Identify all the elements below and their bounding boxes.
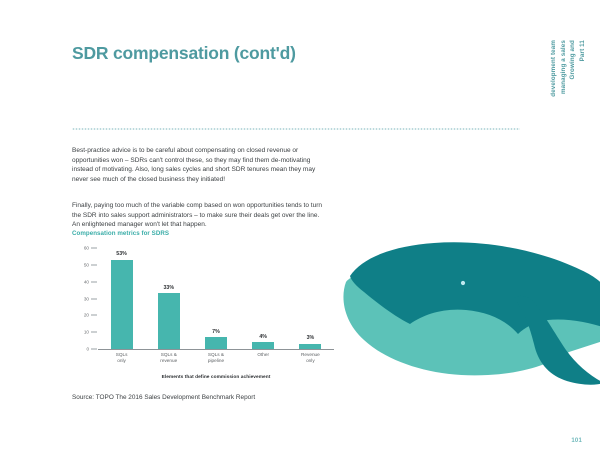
side-tab-line2: managing a sales (560, 40, 568, 94)
body-paragraph-1: Best-practice advice is to be careful ab… (72, 146, 324, 185)
dotted-divider (72, 128, 520, 130)
page-title: SDR compensation (cont'd) (72, 43, 296, 64)
bar-slot: 7% (192, 248, 239, 349)
bar-value-label: 3% (307, 335, 315, 341)
side-tab-line3: development team (550, 40, 558, 97)
bar-value-label: 53% (116, 251, 127, 257)
bar-value-label: 33% (163, 285, 174, 291)
section-side-tab: Part 11 Growing and managing a sales dev… (550, 40, 586, 130)
chart-bar (299, 344, 321, 349)
y-axis: 0102030405060 (72, 248, 89, 349)
y-axis-tick-label: 40 (84, 279, 89, 284)
y-axis-tick-mark (91, 298, 97, 299)
bar-slot: 3% (287, 248, 334, 349)
bar-slot: 4% (240, 248, 287, 349)
y-axis-tick-label: 0 (86, 347, 89, 352)
y-axis-tick-label: 20 (84, 313, 89, 318)
y-axis-tick-mark (91, 248, 97, 249)
bars-container: 53%33%7%4%3% (98, 248, 334, 350)
x-axis-category-label: SQLsonly (98, 352, 145, 364)
y-axis-tick-label: 30 (84, 296, 89, 301)
chart-bar (158, 293, 180, 349)
category-label-line: revenue (145, 358, 192, 364)
page-canvas: SDR compensation (cont'd) Best-practice … (0, 0, 600, 463)
y-axis-tick-mark (91, 349, 97, 350)
paragraph-2-text: Finally, paying too much of the variable… (72, 201, 324, 230)
y-axis-tick-mark (91, 281, 97, 282)
y-axis-tick-label: 10 (84, 330, 89, 335)
page-number: 101 (571, 438, 582, 444)
whale-body-shape (343, 242, 600, 384)
chart-title: Compensation metrics for SDRS (72, 230, 169, 237)
bar-slot: 33% (145, 248, 192, 349)
category-label-line: only (287, 358, 334, 364)
chart-bar (111, 260, 133, 349)
chart-bar (205, 337, 227, 349)
chart-bar (252, 342, 274, 349)
x-axis-category-label: SQLs &revenue (145, 352, 192, 364)
y-axis-tick-mark (91, 332, 97, 333)
bar-value-label: 4% (259, 334, 267, 340)
category-label-line: only (98, 358, 145, 364)
side-tab-part: Part 11 (579, 40, 587, 61)
category-label-line: pipeline (192, 358, 239, 364)
source-citation: Source: TOPO The 2016 Sales Development … (72, 394, 255, 401)
body-paragraph-2: Finally, paying too much of the variable… (72, 201, 324, 230)
x-axis-category-label: Revenueonly (287, 352, 334, 364)
x-axis-title: Elements that define commission achievem… (98, 375, 334, 380)
paragraph-1-text: Best-practice advice is to be careful ab… (72, 146, 324, 185)
bar-value-label: 7% (212, 329, 220, 335)
chart-plot-area: 0102030405060 53%33%7%4%3% SQLsonlySQLs … (72, 248, 334, 370)
y-axis-tick-label: 60 (84, 246, 89, 251)
y-axis-tick-mark (91, 315, 97, 316)
side-tab-line1: Growing and (569, 40, 577, 79)
y-axis-tick-label: 50 (84, 262, 89, 267)
category-label-line: Other (240, 352, 287, 358)
x-axis-category-label: Other (240, 352, 287, 358)
x-axis-categories: SQLsonlySQLs &revenueSQLs &pipelineOther… (98, 352, 334, 372)
whale-illustration (338, 236, 600, 401)
bar-slot: 53% (98, 248, 145, 349)
y-axis-tick-mark (91, 264, 97, 265)
compensation-bar-chart: Compensation metrics for SDRS 0102030405… (72, 230, 334, 390)
x-axis-category-label: SQLs &pipeline (192, 352, 239, 364)
